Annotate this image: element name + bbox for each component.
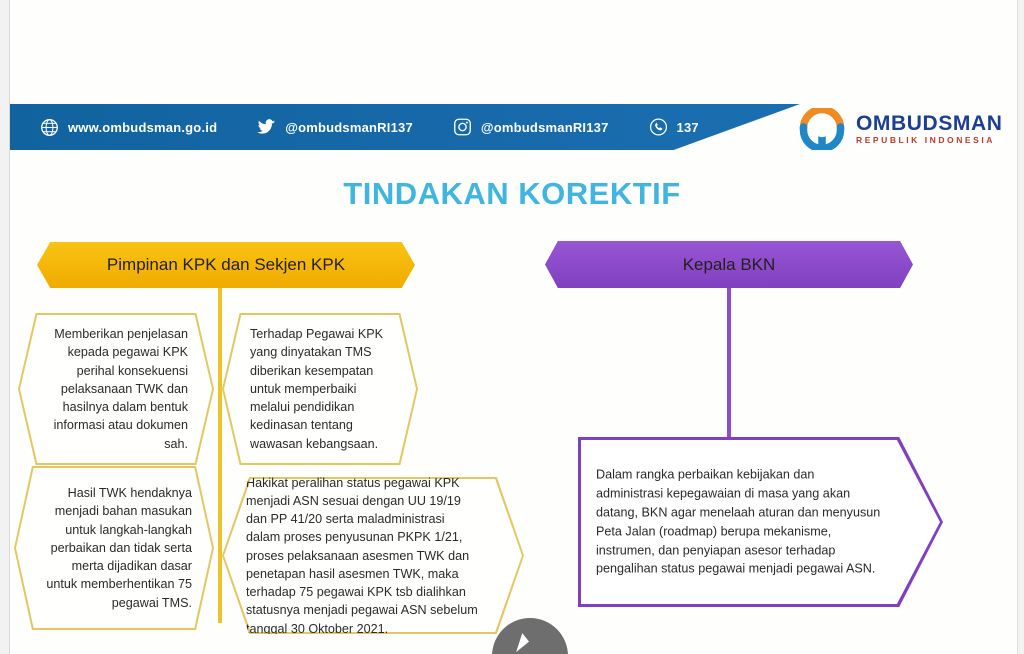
- logo-wordmark: OMBUDSMAN: [856, 112, 1003, 135]
- kpk-action-box-3[interactable]: Terhadap Pegawai KPK yang dinyatakan TMS…: [222, 313, 418, 465]
- connector-line-bkn: [727, 286, 731, 440]
- contact-instagram[interactable]: @ombudsmanRI137: [453, 118, 609, 137]
- bkn-action-box-1[interactable]: Dalam rangka perbaikan kebijakan dan adm…: [578, 437, 943, 607]
- slide-canvas: www.ombudsman.go.id @ombudsmanRI137 @omb…: [0, 0, 1024, 654]
- contact-bar-items: www.ombudsman.go.id @ombudsmanRI137 @omb…: [10, 104, 699, 150]
- globe-icon: [40, 118, 59, 137]
- banner-kpk[interactable]: Pimpinan KPK dan Sekjen KPK: [37, 242, 415, 288]
- contact-website[interactable]: www.ombudsman.go.id: [40, 118, 217, 137]
- contact-twitter[interactable]: @ombudsmanRI137: [257, 118, 413, 137]
- page-title: TINDAKAN KOREKTIF: [0, 176, 1024, 212]
- play-triangle-icon: [516, 633, 531, 654]
- contact-twitter-label: @ombudsmanRI137: [285, 120, 413, 135]
- contact-phone[interactable]: 137: [649, 118, 699, 137]
- banner-kpk-label: Pimpinan KPK dan Sekjen KPK: [107, 255, 345, 275]
- connector-line-kpk: [218, 286, 222, 623]
- kpk-action-box-1[interactable]: Memberikan penjelasan kepada pegawai KPK…: [18, 313, 214, 465]
- phone-icon: [649, 118, 668, 137]
- banner-bkn-label: Kepala BKN: [683, 255, 776, 275]
- banner-bkn[interactable]: Kepala BKN: [545, 241, 913, 288]
- kpk-action-text-2: Hasil TWK hendaknya menjadi bahan masuka…: [14, 484, 214, 612]
- ombudsman-mark-icon: [796, 108, 848, 150]
- play-button-watermark[interactable]: [492, 618, 568, 654]
- instagram-icon: [453, 118, 472, 137]
- right-edge-border: [1017, 0, 1024, 654]
- left-edge-border: [0, 0, 10, 654]
- bkn-action-text-1: Dalam rangka perbaikan kebijakan dan adm…: [578, 465, 943, 578]
- twitter-icon: [257, 118, 276, 137]
- kpk-action-box-2[interactable]: Hasil TWK hendaknya menjadi bahan masuka…: [14, 466, 214, 630]
- contact-instagram-label: @ombudsmanRI137: [481, 120, 609, 135]
- logo-subtitle: REPUBLIK INDONESIA: [856, 136, 1003, 145]
- kpk-action-text-3: Terhadap Pegawai KPK yang dinyatakan TMS…: [222, 325, 418, 453]
- contact-website-label: www.ombudsman.go.id: [68, 120, 217, 135]
- contact-phone-label: 137: [677, 120, 699, 135]
- kpk-action-text-1: Memberikan penjelasan kepada pegawai KPK…: [18, 325, 214, 453]
- kpk-action-box-4[interactable]: Hakikat peralihan status pegawai KPK men…: [222, 477, 524, 634]
- kpk-action-text-4: Hakikat peralihan status pegawai KPK men…: [222, 473, 524, 637]
- ombudsman-logo: OMBUDSMAN REPUBLIK INDONESIA: [796, 108, 1003, 150]
